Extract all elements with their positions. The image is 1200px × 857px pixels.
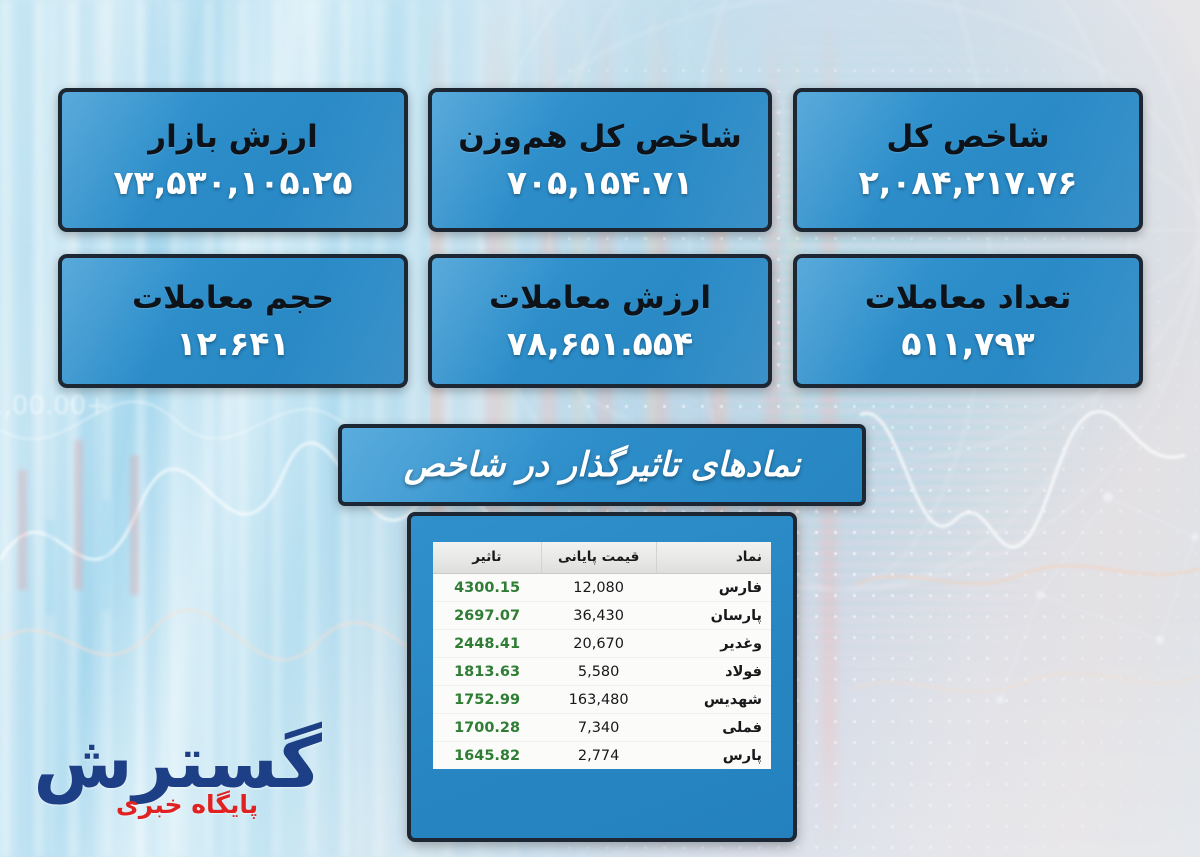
table-row[interactable]: فولاد5,5801813.63 [433, 658, 771, 686]
svg-text:+11,00.00: +11,00.00 [0, 391, 108, 421]
cell-symbol: فولاد [656, 658, 771, 686]
cell-symbol: فملی [656, 714, 771, 742]
influential-symbols-table: نماد قیمت پایانی تاثیر فارس12,0804300.15… [433, 542, 771, 769]
site-logo[interactable]: گسترش پایگاه خبری [52, 726, 322, 844]
stat-card-title: شاخص کل هم‌وزن [458, 120, 741, 154]
cell-closing-price: 7,340 [541, 714, 656, 742]
cell-symbol: وغدیر [656, 630, 771, 658]
table-header-row: نماد قیمت پایانی تاثیر [433, 542, 771, 574]
stat-card-value: ۱۲.۶۴۱ [176, 327, 289, 362]
cell-symbol: پارسان [656, 602, 771, 630]
stat-card-value: ۷۸,۶۵۱.۵۵۴ [507, 327, 693, 362]
table-row[interactable]: وغدیر20,6702448.41 [433, 630, 771, 658]
stat-card-trade-count[interactable]: تعداد معاملات ۵۱۱,۷۹۳ [793, 254, 1143, 388]
stat-card-value: ۷۳,۵۳۰,۱۰۵.۲۵ [113, 166, 352, 201]
cell-symbol: فارس [656, 574, 771, 602]
cell-closing-price: 5,580 [541, 658, 656, 686]
section-banner: نمادهای تاثیرگذار در شاخص [338, 424, 866, 506]
stat-card-title: حجم معاملات [132, 281, 334, 315]
cell-impact: 1752.99 [433, 686, 541, 714]
infographic-canvas: +11,00.00 ارزش بازار ۷۳,۵۳۰,۱۰۵.۲۵ شاخص … [0, 0, 1200, 857]
column-header-closing-price[interactable]: قیمت پایانی [541, 542, 656, 574]
cell-impact: 1700.28 [433, 714, 541, 742]
stat-card-value: ۷۰۵,۱۵۴.۷۱ [507, 166, 693, 201]
stat-card-title: شاخص کل [886, 120, 1049, 154]
cell-symbol: شهدیس [656, 686, 771, 714]
table-header: نماد قیمت پایانی تاثیر [433, 542, 771, 574]
influential-symbols-panel: نماد قیمت پایانی تاثیر فارس12,0804300.15… [407, 512, 797, 842]
cell-impact: 2697.07 [433, 602, 541, 630]
stat-card-value: ۵۱۱,۷۹۳ [901, 327, 1034, 362]
stat-card-value: ۲,۰۸۴,۲۱۷.۷۶ [859, 166, 1078, 201]
cell-closing-price: 12,080 [541, 574, 656, 602]
table-row[interactable]: پارسان36,4302697.07 [433, 602, 771, 630]
cell-impact: 2448.41 [433, 630, 541, 658]
cell-impact: 4300.15 [433, 574, 541, 602]
section-banner-title: نمادهای تاثیرگذار در شاخص [404, 445, 800, 485]
column-header-impact[interactable]: تاثیر [433, 542, 541, 574]
table-row[interactable]: فملی7,3401700.28 [433, 714, 771, 742]
table-body: فارس12,0804300.15پارسان36,4302697.07وغدی… [433, 574, 771, 770]
table-row[interactable]: شهدیس163,4801752.99 [433, 686, 771, 714]
cell-closing-price: 2,774 [541, 742, 656, 770]
column-header-symbol[interactable]: نماد [656, 542, 771, 574]
table-row[interactable]: فارس12,0804300.15 [433, 574, 771, 602]
site-logo-name: گسترش [52, 726, 322, 798]
stat-card-market-value[interactable]: ارزش بازار ۷۳,۵۳۰,۱۰۵.۲۵ [58, 88, 408, 232]
stat-card-equal-weight-index[interactable]: شاخص کل هم‌وزن ۷۰۵,۱۵۴.۷۱ [428, 88, 772, 232]
cell-closing-price: 20,670 [541, 630, 656, 658]
stat-card-trade-volume[interactable]: حجم معاملات ۱۲.۶۴۱ [58, 254, 408, 388]
stat-card-title: ارزش بازار [148, 120, 318, 154]
cell-symbol: پارس [656, 742, 771, 770]
cell-impact: 1645.82 [433, 742, 541, 770]
cell-impact: 1813.63 [433, 658, 541, 686]
table-row[interactable]: پارس2,7741645.82 [433, 742, 771, 770]
stat-card-trade-value[interactable]: ارزش معاملات ۷۸,۶۵۱.۵۵۴ [428, 254, 772, 388]
cell-closing-price: 163,480 [541, 686, 656, 714]
stat-card-total-index[interactable]: شاخص کل ۲,۰۸۴,۲۱۷.۷۶ [793, 88, 1143, 232]
cell-closing-price: 36,430 [541, 602, 656, 630]
stat-card-title: تعداد معاملات [865, 281, 1072, 315]
stat-card-title: ارزش معاملات [489, 281, 711, 315]
